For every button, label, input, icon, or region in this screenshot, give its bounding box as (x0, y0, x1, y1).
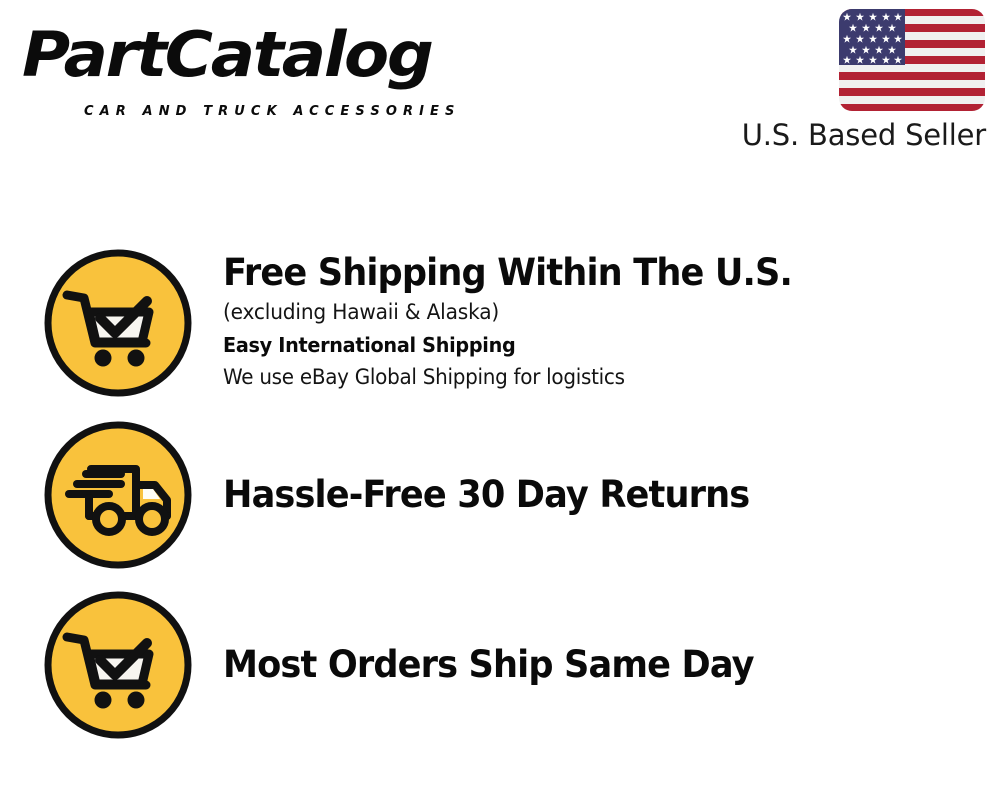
feature-title: Free Shipping Within The U.S. (223, 250, 961, 296)
cart-check-icon (43, 590, 193, 740)
feature-subtitle: Easy International Shipping (223, 328, 969, 362)
feature-row: Free Shipping Within The U.S. (excluding… (0, 248, 1000, 398)
feature-title: Most Orders Ship Same Day (223, 642, 961, 688)
feature-text-block: Most Orders Ship Same Day (223, 642, 1000, 688)
feature-text-block: Hassle-Free 30 Day Returns (223, 472, 1000, 518)
us-flag-icon (838, 8, 986, 112)
us-based-seller-label: U.S. Based Seller (600, 118, 986, 152)
page-header: PartCatalog CAR AND TRUCK ACCESSORIES (0, 0, 1000, 170)
feature-text-block: Free Shipping Within The U.S. (excluding… (223, 248, 1000, 393)
feature-row: Most Orders Ship Same Day (0, 590, 1000, 740)
feature-note: (excluding Hawaii & Alaska) (223, 296, 969, 328)
brand-tagline: CAR AND TRUCK ACCESSORIES (84, 104, 461, 119)
feature-detail: We use eBay Global Shipping for logistic… (223, 362, 961, 393)
brand-wordmark: PartCatalog (22, 18, 432, 92)
feature-title: Hassle-Free 30 Day Returns (223, 472, 961, 518)
cart-check-icon (43, 248, 193, 398)
feature-row: Hassle-Free 30 Day Returns (0, 420, 1000, 570)
brand-logo[interactable]: PartCatalog CAR AND TRUCK ACCESSORIES (22, 18, 492, 113)
delivery-truck-icon (43, 420, 193, 570)
